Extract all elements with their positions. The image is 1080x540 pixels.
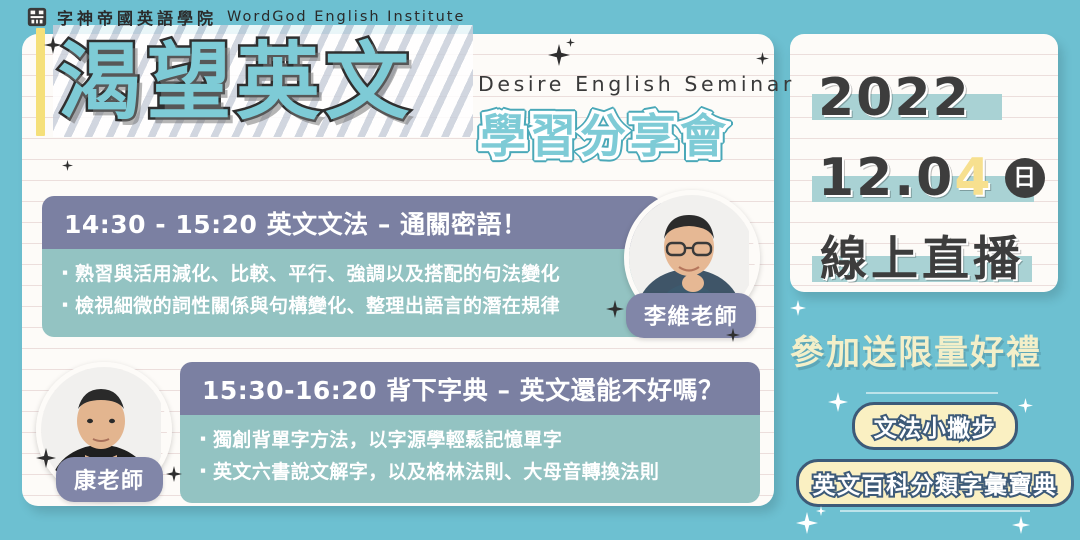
- session-2-bullet-text: 獨創背單字方法，以字源學輕鬆記憶單字: [213, 428, 562, 454]
- gift-promo-title: 參加送限量好禮: [790, 325, 1042, 374]
- instructor-name-2: 康老師: [74, 469, 145, 494]
- sparkle-icon: [1018, 398, 1033, 413]
- session-2-bullet: ▪ 獨創背單字方法，以字源學輕鬆記憶單字: [200, 428, 742, 454]
- gift-item-2: 英文百科分類字彙寶典: [813, 466, 1058, 500]
- hero-title-block: 渴望英文: [30, 20, 480, 145]
- session-block-2: 15:30-16:20 背下字典 – 英文還能不好嗎？ ▪ 獨創背單字方法，以字…: [180, 362, 760, 503]
- date-main: 12.0: [818, 152, 954, 204]
- hero-subtitle-en: Desire English Seminar: [478, 72, 795, 96]
- brand-name-en: WordGod English Institute: [227, 9, 465, 25]
- broadcast-mode: 線上直播: [820, 236, 1024, 283]
- seal-stamp-icon: [26, 6, 48, 28]
- session-1-body: ▪ 熟習與活用減化、比較、平行、強調以及搭配的句法變化 ▪ 檢視細微的詞性關係與…: [42, 249, 662, 337]
- instructor-name-1: 李維老師: [644, 305, 738, 330]
- sparkle-icon: [756, 52, 769, 65]
- poster-root: 字神帝國英語學院 WordGod English Institute 渴望英文 …: [0, 0, 1080, 540]
- session-2-heading: 15:30-16:20 背下字典 – 英文還能不好嗎？: [202, 371, 740, 407]
- session-1-bullet-text: 檢視細微的詞性關係與句構變化、整理出語言的潛在規律: [75, 294, 560, 320]
- sparkle-icon: [548, 44, 570, 66]
- date-year-row: 2022: [818, 72, 971, 124]
- session-2-bullet-text: 英文六書說文解字，以及格林法則、大母音轉換法則: [213, 460, 659, 486]
- sparkle-icon: [828, 392, 848, 412]
- session-1-bullet: ▪ 檢視細微的詞性關係與句構變化、整理出語言的潛在規律: [62, 294, 644, 320]
- sparkle-icon: [36, 448, 56, 468]
- sparkle-icon: [796, 512, 818, 534]
- hero-subtitle-cn: 學習分享會: [480, 100, 730, 166]
- sparkle-icon: [62, 160, 73, 171]
- date-accent-digit: 4: [954, 152, 992, 204]
- gift-item-pill-1: 文法小撇步: [852, 402, 1018, 450]
- session-1-header: 14:30 - 15:20 英文文法 – 通關密語！: [42, 196, 662, 249]
- date-info-card: 2022 12.0 4 日 線上直播: [790, 34, 1058, 292]
- session-2-header: 15:30-16:20 背下字典 – 英文還能不好嗎？: [180, 362, 760, 415]
- sparkle-icon: [726, 328, 740, 342]
- bullet-dot-icon: ▪: [200, 428, 206, 450]
- gift-item-pill-2: 英文百科分類字彙寶典: [796, 459, 1074, 507]
- gift-divider-top: [866, 392, 998, 394]
- session-1-heading: 14:30 - 15:20 英文文法 – 通關密語！: [64, 205, 642, 241]
- sparkle-icon: [166, 466, 182, 482]
- sparkle-icon: [790, 300, 806, 316]
- sparkle-icon: [816, 506, 826, 516]
- bullet-dot-icon: ▪: [62, 262, 68, 284]
- session-2-body: ▪ 獨創背單字方法，以字源學輕鬆記憶單字 ▪ 英文六書說文解字，以及格林法則、大…: [180, 415, 760, 503]
- brand-bar: 字神帝國英語學院 WordGod English Institute: [0, 0, 1080, 34]
- session-block-1: 14:30 - 15:20 英文文法 – 通關密語！ ▪ 熟習與活用減化、比較、…: [42, 196, 662, 337]
- bullet-dot-icon: ▪: [200, 460, 206, 482]
- bullet-dot-icon: ▪: [62, 294, 68, 316]
- date-year: 2022: [818, 72, 971, 124]
- instructor-name-pill-2: 康老師: [56, 457, 163, 502]
- weekday-badge: 日: [1005, 158, 1045, 198]
- brand-name-cn: 字神帝國英語學院: [57, 5, 217, 29]
- sparkle-icon: [1012, 516, 1030, 534]
- session-1-bullet-text: 熟習與活用減化、比較、平行、強調以及搭配的句法變化: [75, 262, 560, 288]
- gift-divider-bottom: [840, 510, 1030, 512]
- hero-title-cn: 渴望英文: [58, 26, 478, 138]
- gift-item-1: 文法小撇步: [874, 409, 997, 443]
- session-1-bullet: ▪ 熟習與活用減化、比較、平行、強調以及搭配的句法變化: [62, 262, 644, 288]
- date-main-row: 12.0 4 日: [818, 152, 1045, 204]
- weekday-label: 日: [1013, 167, 1036, 190]
- sparkle-icon: [606, 300, 624, 318]
- broadcast-mode-row: 線上直播: [820, 236, 1024, 283]
- session-2-bullet: ▪ 英文六書說文解字，以及格林法則、大母音轉換法則: [200, 460, 742, 486]
- sparkle-icon: [566, 38, 575, 47]
- sparkle-icon: [44, 36, 62, 54]
